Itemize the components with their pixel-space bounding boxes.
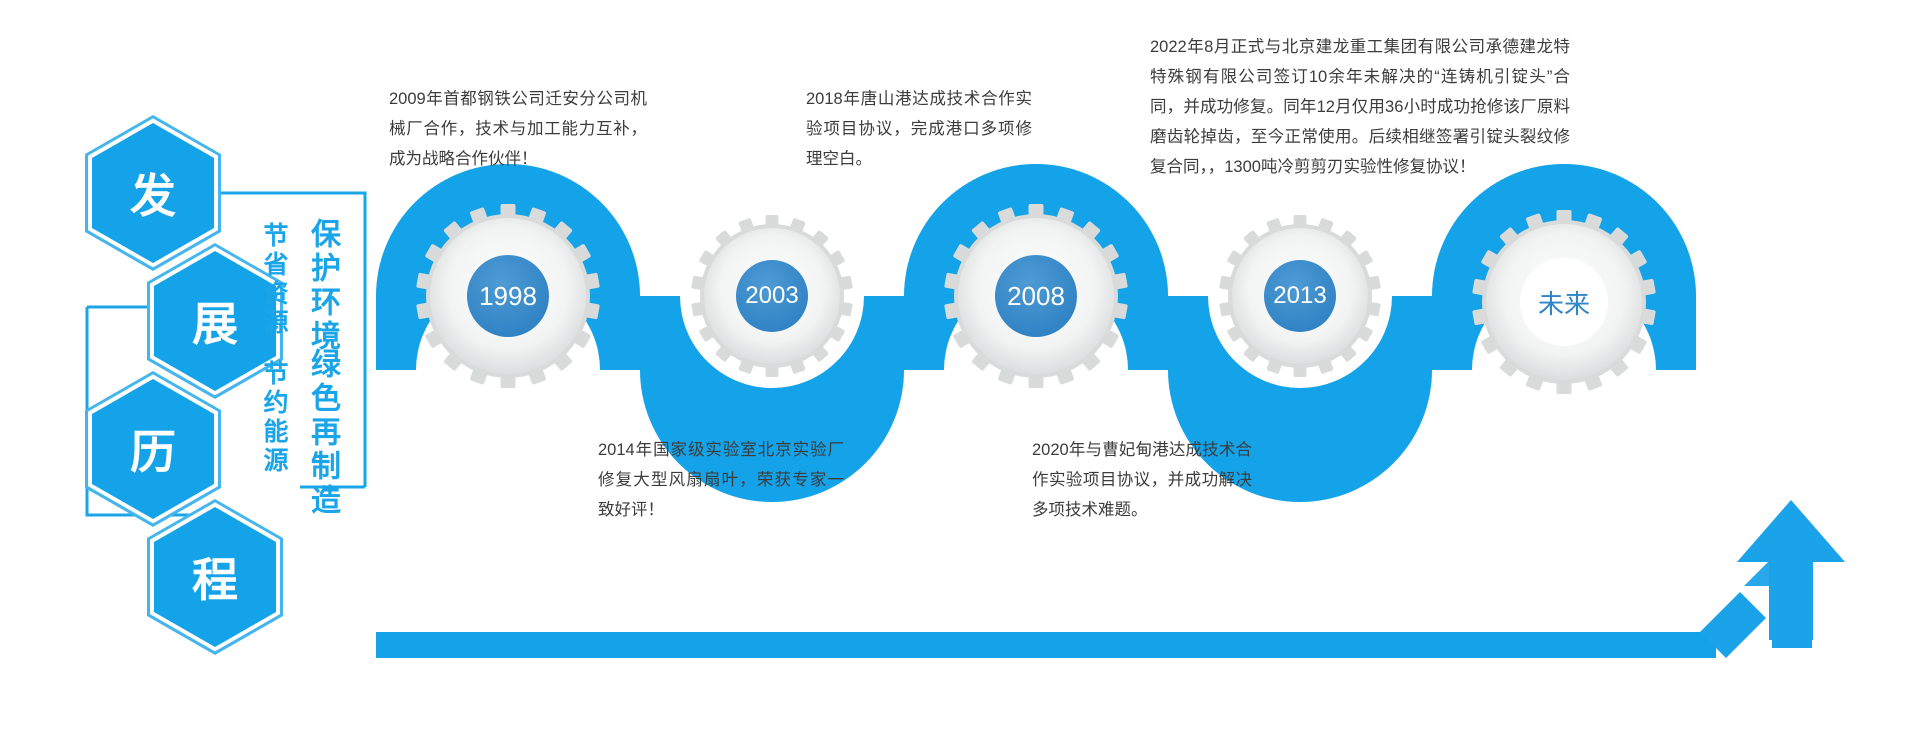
timeline-node-2003[interactable]: 2003 [705,229,839,363]
timeline-node-future[interactable]: 未来 [1489,227,1639,377]
hexagon-cheng[interactable]: 程 [147,499,283,655]
note-2009: 2009年首都钢铁公司迁安分公司机械厂合作，技术与加工能力互补，成为战略合作伙伴… [389,84,647,174]
note-2022: 2022年8月正式与北京建龙重工集团有限公司承德建龙特特殊钢有限公司签订10余年… [1150,32,1570,182]
timeline-node-future-label: 未来 [1489,227,1639,377]
timeline-node-1998[interactable]: 1998 [433,221,583,371]
slogan-lvse-zaizhizao: 绿色再制造 [300,348,344,518]
growth-arrow-icon [1700,500,1845,658]
note-2018: 2018年唐山港达成技术合作实验项目协议，完成港口多项修理空白。 [806,84,1032,174]
left-hexagon-panel: 发 展 历 程 [75,115,395,545]
timeline-node-2008[interactable]: 2008 [961,221,1111,371]
timeline-node-2013-label: 2013 [1233,229,1367,363]
timeline-node-2008-label: 2008 [961,221,1111,371]
timeline-node-2003-label: 2003 [705,229,839,363]
timeline-node-1998-label: 1998 [433,221,583,371]
note-2014: 2014年国家级实验室北京实验厂修复大型风扇扇叶，荣获专家一致好评！ [598,435,844,525]
base-bar [376,632,1716,658]
note-2020: 2020年与曹妃甸港达成技术合作实验项目协议，并成功解决多项技术难题。 [1032,435,1252,525]
slogan-jiesheng-ziyuan: 节省资源 [256,222,292,338]
infographic-canvas: 1998 2003 2008 2013 未来 发 展 [0,0,1920,738]
slogan-baohu-huanjing: 保护环境 [300,218,344,354]
timeline-node-2013[interactable]: 2013 [1233,229,1367,363]
slogan-jieyue-nengyuan: 节约能源 [256,360,292,476]
